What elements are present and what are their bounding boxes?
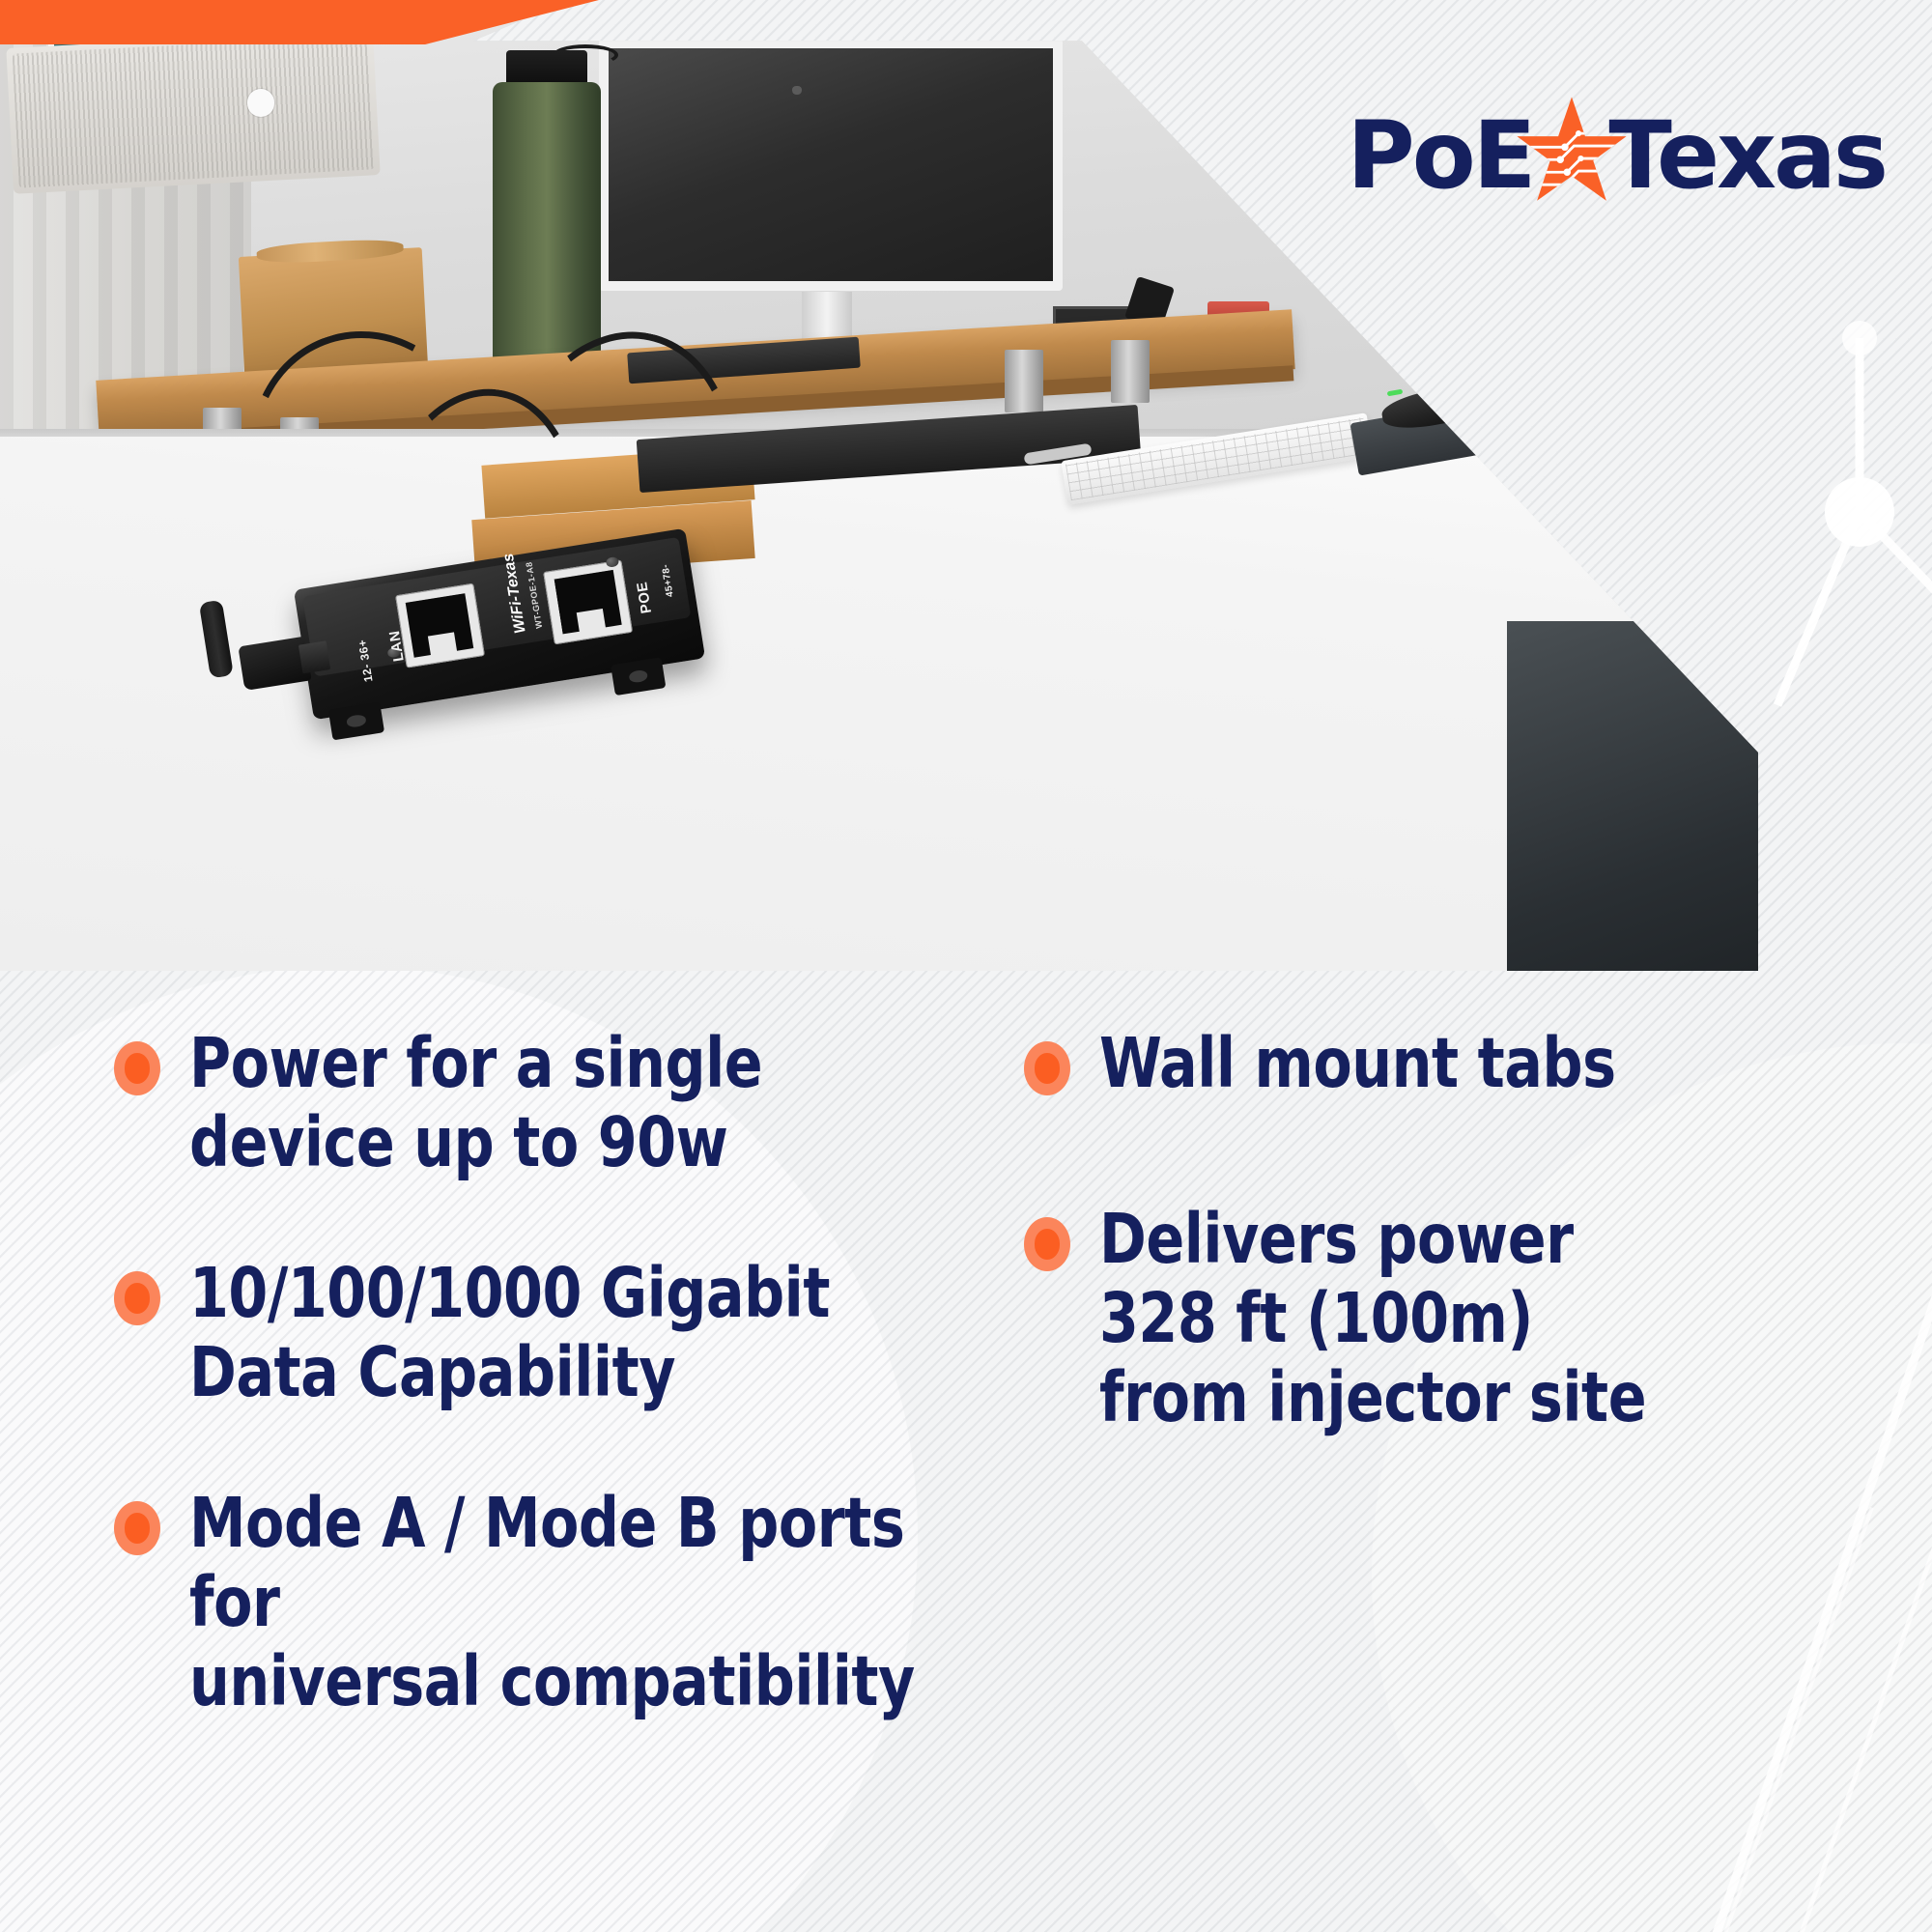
soundbar-speaker [6, 29, 380, 193]
monitor-screen [599, 39, 1063, 291]
bullet-dot-icon [114, 1271, 160, 1325]
shelf-leg [1111, 340, 1150, 403]
feature-item: Delivers power 328 ft (100m) from inject… [1024, 1200, 1932, 1437]
orange-corner-accent [0, 0, 599, 44]
bullet-dot-icon [1024, 1217, 1070, 1271]
feature-text: Wall mount tabs [1099, 1024, 1616, 1103]
feature-list: Power for a single device up to 90w 10/1… [0, 1024, 1932, 1793]
feature-item: Power for a single device up to 90w [114, 1024, 1024, 1182]
floor [1623, 438, 1932, 650]
feature-item: Wall mount tabs [1024, 1024, 1932, 1103]
feature-item: 10/100/1000 Gigabit Data Capability [114, 1254, 1024, 1412]
logo-text-poe: PoE [1347, 109, 1533, 202]
chair-post [1760, 503, 1806, 632]
rj45-lan-port [395, 582, 485, 668]
water-bottle [493, 82, 601, 374]
feature-text: 10/100/1000 Gigabit Data Capability [189, 1254, 830, 1412]
feature-column-left: Power for a single device up to 90w 10/1… [0, 1024, 1024, 1793]
monitor-logo-icon [792, 86, 802, 96]
poe-texas-logo: PoE [1347, 101, 1886, 210]
feature-text: Power for a single device up to 90w [189, 1024, 762, 1182]
mousepad-logo-icon [1516, 438, 1548, 453]
office-chair-back [1507, 621, 1932, 971]
chair-armrest [1709, 468, 1884, 528]
poster-canvas: 12- 36+ LAN WiFi-Texas WT-GPOE-1-A8 POE … [0, 0, 1932, 1932]
speaker-button [247, 89, 274, 116]
feature-text: Delivers power 328 ft (100m) from inject… [1099, 1200, 1646, 1437]
shelf-leg [1005, 350, 1043, 412]
bullet-dot-icon [114, 1041, 160, 1095]
star-circuit-icon [1514, 95, 1630, 209]
rj45-poe-port [543, 559, 633, 644]
feature-item: Mode A / Mode B ports for universal comp… [114, 1484, 1024, 1721]
logo-text-texas: Texas [1608, 109, 1886, 202]
feature-column-right: Wall mount tabs Delivers power 328 ft (1… [1024, 1024, 1932, 1793]
network-node-graphic [1662, 319, 1932, 724]
feature-text: Mode A / Mode B ports for universal comp… [189, 1484, 957, 1721]
bullet-dot-icon [1024, 1041, 1070, 1095]
dc-power-jack [298, 640, 330, 673]
bullet-dot-icon [114, 1501, 160, 1555]
